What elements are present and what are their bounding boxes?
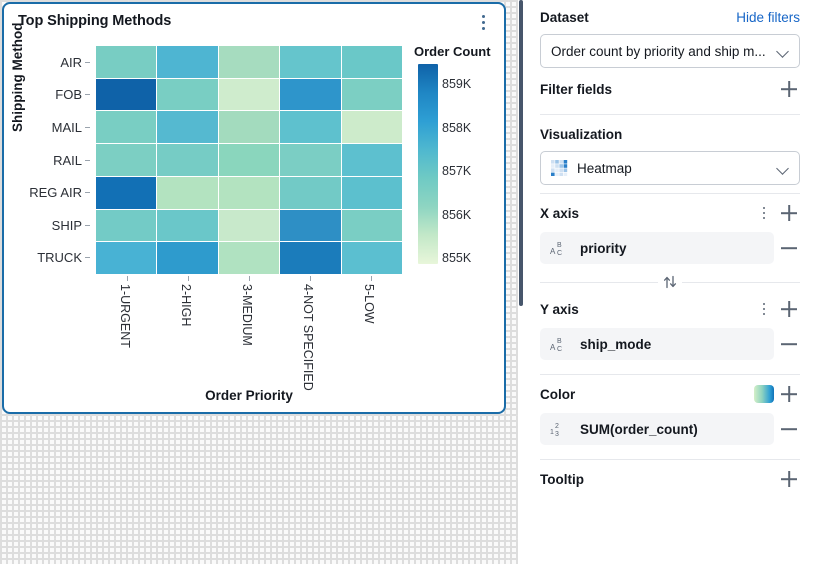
visualization-label: Visualization	[540, 127, 622, 142]
y-axis-label: Y axis	[540, 302, 579, 317]
heatmap-cell[interactable]	[280, 242, 340, 274]
dataset-label: Dataset	[540, 10, 589, 25]
heatmap-cell[interactable]	[219, 46, 279, 78]
divider	[540, 114, 800, 115]
chevron-down-icon	[777, 162, 789, 174]
heatmap-cell[interactable]	[280, 177, 340, 209]
heatmap-cell[interactable]	[342, 111, 402, 143]
heatmap-cell[interactable]	[96, 111, 156, 143]
svg-text:A: A	[550, 343, 556, 352]
color-field-pill[interactable]: 1 2 3 SUM(order_count)	[540, 413, 774, 445]
heatmap-cell[interactable]	[157, 79, 217, 111]
legend-tick-2: 857K	[442, 164, 471, 178]
heatmap-cell[interactable]	[96, 177, 156, 209]
heatmap-cell[interactable]	[96, 144, 156, 176]
heatmap-cell[interactable]	[96, 46, 156, 78]
heatmap-cell[interactable]	[96, 210, 156, 242]
x-axis-field-pill[interactable]: A B C priority	[540, 232, 774, 264]
heatmap-cell-grid[interactable]	[96, 46, 402, 274]
app-root: Top Shipping Methods Shipping Method AIR…	[0, 0, 814, 564]
svg-text:A: A	[550, 247, 556, 256]
y-axis-tick-5: SHIP	[22, 209, 90, 242]
legend-colorbar	[418, 64, 438, 264]
heatmap-cell[interactable]	[157, 242, 217, 274]
visualization-section-header: Visualization	[540, 117, 800, 151]
heatmap-cell[interactable]	[157, 111, 217, 143]
heatmap-cell[interactable]	[280, 111, 340, 143]
kebab-vertical-icon[interactable]	[474, 12, 492, 32]
x-axis-tick-1: 2-HIGH	[157, 276, 218, 282]
heatmap-cell[interactable]	[280, 79, 340, 111]
hide-filters-link[interactable]: Hide filters	[736, 10, 800, 25]
heatmap-cell[interactable]	[280, 46, 340, 78]
y-axis-tick-1: FOB	[22, 79, 90, 112]
color-field-name: SUM(order_count)	[580, 422, 698, 437]
filter-fields-section-header: Filter fields	[540, 72, 800, 106]
heatmap-icon	[551, 160, 569, 176]
svg-text:B: B	[557, 242, 562, 249]
x-axis-kebab-vertical-icon[interactable]	[756, 203, 772, 223]
heatmap-cell[interactable]	[219, 111, 279, 143]
add-tooltip-field-button[interactable]	[778, 468, 800, 490]
visualization-select[interactable]: Heatmap	[540, 151, 800, 185]
color-gradient-swatch[interactable]	[754, 385, 774, 403]
svg-text:C: C	[557, 250, 562, 256]
x-axis-field-name: priority	[580, 241, 627, 256]
svg-text:1: 1	[550, 429, 554, 436]
legend-tick-labels: 859K858K857K856K855K	[442, 64, 502, 264]
y-axis-section-header: Y axis	[540, 292, 800, 326]
legend-tick-0: 859K	[442, 77, 471, 91]
tooltip-label: Tooltip	[540, 472, 584, 487]
dataset-section-header: Dataset Hide filters	[540, 0, 800, 34]
y-axis-field-row: A B C ship_mode	[540, 328, 800, 360]
legend-tick-4: 855K	[442, 251, 471, 265]
x-axis-tick-4: 5-LOW	[341, 276, 402, 282]
numeric-field-icon: 1 2 3	[550, 421, 570, 437]
add-y-axis-field-button[interactable]	[778, 298, 800, 320]
divider	[540, 374, 800, 375]
heatmap-cell[interactable]	[219, 177, 279, 209]
add-color-field-button[interactable]	[778, 383, 800, 405]
y-axis-tick-6: TRUCK	[22, 241, 90, 274]
heatmap-cell[interactable]	[280, 144, 340, 176]
add-x-axis-field-button[interactable]	[778, 202, 800, 224]
vertical-scrollbar[interactable]	[517, 0, 525, 564]
x-axis-label: X axis	[540, 206, 579, 221]
heatmap-plot: Shipping Method AIRFOBMAILRAILREG AIRSHI…	[4, 40, 504, 412]
heatmap-cell[interactable]	[219, 210, 279, 242]
color-section-header: Color	[540, 377, 800, 411]
color-field-row: 1 2 3 SUM(order_count)	[540, 413, 800, 445]
dataset-select-value: Order count by priority and ship m...	[551, 44, 769, 59]
legend: Order Count 859K858K857K856K855K	[408, 40, 504, 280]
legend-tick-3: 856K	[442, 208, 471, 222]
heatmap-cell[interactable]	[157, 46, 217, 78]
y-axis-tick-0: AIR	[22, 46, 90, 79]
y-axis-tick-4: REG AIR	[22, 176, 90, 209]
chevron-down-icon	[777, 45, 789, 57]
remove-color-field-button[interactable]	[778, 418, 800, 440]
y-axis-tick-3: RAIL	[22, 144, 90, 177]
y-axis-tick-2: MAIL	[22, 111, 90, 144]
x-axis-section-header: X axis	[540, 196, 800, 230]
heatmap-cell[interactable]	[342, 210, 402, 242]
remove-x-axis-field-button[interactable]	[778, 237, 800, 259]
heatmap-cell[interactable]	[219, 144, 279, 176]
heatmap-cell[interactable]	[157, 177, 217, 209]
x-axis-tick-3: 4-NOT SPECIFIED	[280, 276, 341, 282]
heatmap-cell[interactable]	[342, 79, 402, 111]
chart-card[interactable]: Top Shipping Methods Shipping Method AIR…	[2, 2, 506, 414]
legend-title: Order Count	[414, 44, 491, 59]
heatmap-cell[interactable]	[280, 210, 340, 242]
divider	[540, 459, 800, 460]
add-filter-field-button[interactable]	[778, 78, 800, 100]
x-axis-tick-0: 1-URGENT	[96, 276, 157, 282]
dataset-select[interactable]: Order count by priority and ship m...	[540, 34, 800, 68]
heatmap-cell[interactable]	[342, 242, 402, 274]
x-axis-tick-labels: 1-URGENT2-HIGH3-MEDIUM4-NOT SPECIFIED5-L…	[96, 276, 402, 282]
heatmap-cell[interactable]	[342, 144, 402, 176]
x-axis-tick-2: 3-MEDIUM	[218, 276, 279, 282]
swap-axes-divider	[540, 272, 800, 292]
y-axis-tick-labels: AIRFOBMAILRAILREG AIRSHIPTRUCK	[22, 46, 90, 274]
heatmap-cell[interactable]	[96, 79, 156, 111]
filter-fields-label: Filter fields	[540, 82, 612, 97]
heatmap-cell[interactable]	[96, 242, 156, 274]
remove-y-axis-field-button[interactable]	[778, 333, 800, 355]
heatmap-cell[interactable]	[219, 242, 279, 274]
svg-text:C: C	[557, 346, 562, 352]
abc-text-field-icon: A B C	[550, 240, 570, 256]
card-header: Top Shipping Methods	[4, 4, 504, 40]
divider	[540, 193, 800, 194]
visualization-select-value: Heatmap	[577, 161, 769, 176]
swap-axes-icon[interactable]	[658, 273, 682, 291]
color-label: Color	[540, 387, 575, 402]
scrollbar-thumb[interactable]	[519, 0, 523, 306]
heatmap-cell[interactable]	[157, 144, 217, 176]
heatmap-cell[interactable]	[219, 79, 279, 111]
x-axis-field-row: A B C priority	[540, 232, 800, 264]
dashboard-canvas: Top Shipping Methods Shipping Method AIR…	[0, 0, 518, 564]
y-axis-kebab-vertical-icon[interactable]	[756, 299, 772, 319]
heatmap-cell[interactable]	[342, 46, 402, 78]
card-title: Top Shipping Methods	[18, 13, 171, 29]
svg-text:B: B	[557, 338, 562, 345]
config-panel: Dataset Hide filters Order count by prio…	[526, 0, 814, 564]
legend-tick-1: 858K	[442, 121, 471, 135]
x-axis-title: Order Priority	[96, 388, 402, 403]
y-axis-field-pill[interactable]: A B C ship_mode	[540, 328, 774, 360]
y-axis-field-name: ship_mode	[580, 337, 651, 352]
heatmap-cell[interactable]	[157, 210, 217, 242]
abc-text-field-icon: A B C	[550, 336, 570, 352]
heatmap-cell[interactable]	[342, 177, 402, 209]
svg-text:2: 2	[555, 423, 559, 430]
tooltip-section-header: Tooltip	[540, 462, 800, 496]
svg-text:3: 3	[555, 431, 559, 437]
